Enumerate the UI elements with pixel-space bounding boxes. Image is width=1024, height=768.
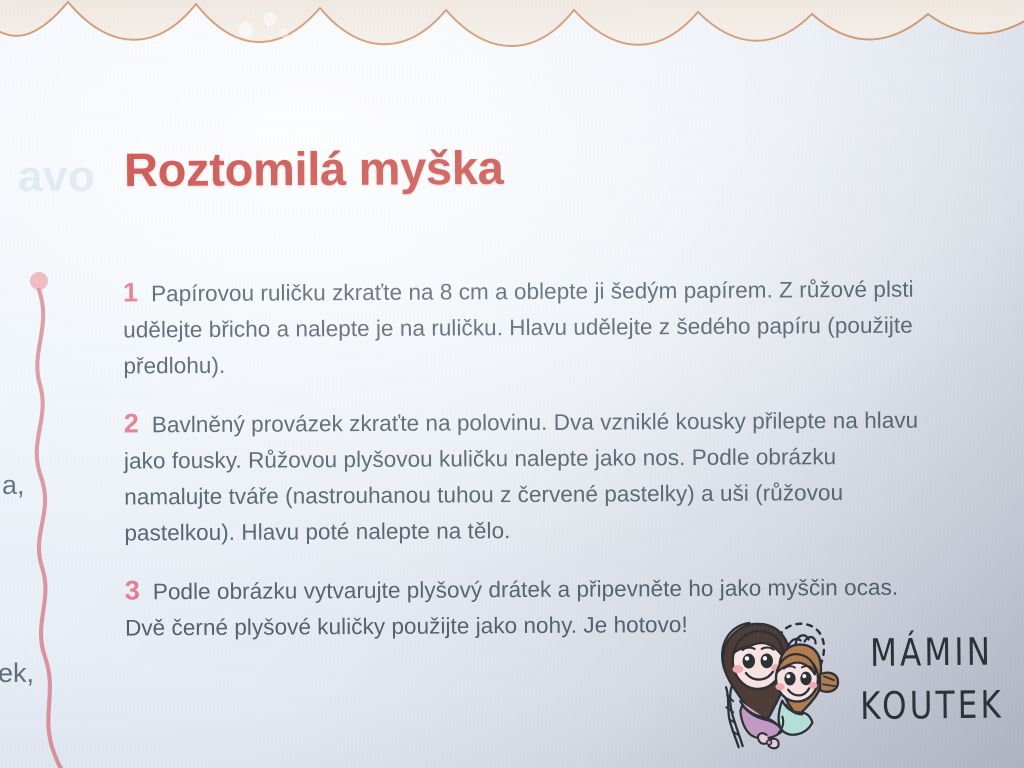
brand-logo: MÁMIN KOUTEK <box>696 610 1005 751</box>
page-title: Roztomilá myška <box>124 140 504 197</box>
photographed-craft-page: avo a, ek, Roztomilá myška 1Papírovou ru… <box>0 0 1024 768</box>
logo-line-2: KOUTEK <box>860 687 1004 726</box>
ghost-text-title-fragment: avo <box>18 152 95 202</box>
brand-logo-wordmark: MÁMIN KOUTEK <box>860 637 1005 723</box>
pin-dot <box>30 272 48 290</box>
step-number: 2 <box>124 405 139 441</box>
instruction-step: 2Bavlněný provázek zkraťte na polovinu. … <box>124 401 935 552</box>
instruction-step: 1Papírovou ruličku zkraťte na 8 cm a obl… <box>123 270 934 385</box>
mother-and-daughter-heart-icon <box>696 612 847 752</box>
step-number: 1 <box>123 274 138 310</box>
step-text: Papírovou ruličku zkraťte na 8 cm a oble… <box>123 277 914 379</box>
instruction-list: 1Papírovou ruličku zkraťte na 8 cm a obl… <box>123 270 935 647</box>
logo-line-1: MÁMIN <box>870 634 993 673</box>
mouse-tail-squiggle <box>0 255 120 768</box>
step-number: 3 <box>125 572 140 608</box>
step-text: Bavlněný provázek zkraťte na polovinu. D… <box>124 408 918 546</box>
scalloped-top-border <box>0 0 1024 62</box>
